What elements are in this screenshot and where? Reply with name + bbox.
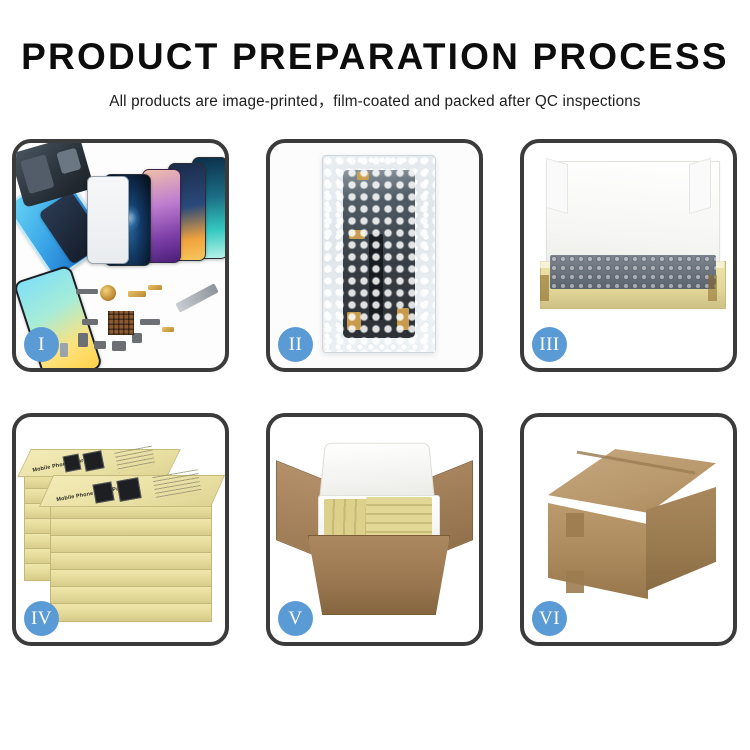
tweezers-icon <box>175 283 219 312</box>
inner-boxes-row-2 <box>366 497 432 541</box>
tape-piece-3 <box>347 312 361 330</box>
step-badge-1: I <box>24 327 59 362</box>
step-panel-1[interactable]: I <box>12 139 229 372</box>
part-gold-1 <box>128 291 146 297</box>
step-badge-5: V <box>278 601 313 636</box>
tape-piece-1 <box>357 172 369 180</box>
part-gold-2 <box>148 285 162 290</box>
bubble-wrap-bag-icon <box>322 155 436 353</box>
step-badge-2: II <box>278 327 313 362</box>
phone-glass-front-icon <box>87 176 129 264</box>
step-panel-3[interactable]: III <box>520 139 737 372</box>
tape-piece-4 <box>397 308 409 330</box>
box-thumb-front-2 <box>116 477 141 502</box>
phone-back-housing-icon <box>16 143 94 208</box>
part-gold-3 <box>162 327 174 332</box>
connector-grid-icon <box>108 311 134 335</box>
part-chip-3 <box>78 333 88 347</box>
shipping-carton-icon <box>308 535 450 615</box>
tape-piece-2 <box>349 230 365 239</box>
page-subtitle: All products are image-printed，film-coat… <box>0 89 750 111</box>
page-title: PRODUCT PREPARATION PROCESS <box>0 38 750 77</box>
speaker-coil-icon <box>100 285 116 301</box>
step-badge-3: III <box>532 327 567 362</box>
part-chip-5 <box>112 341 126 351</box>
step-panel-4[interactable]: Mobile Phone Spare Parts Mobile Phone Sp… <box>12 413 229 646</box>
box-thumb-back-2 <box>82 450 104 471</box>
step-badge-6: VI <box>532 601 567 636</box>
flex-cable-icon <box>369 234 383 320</box>
part-chip-8 <box>60 343 68 357</box>
process-steps-grid: I II III <box>12 139 738 679</box>
step-panel-5[interactable]: V <box>266 413 483 646</box>
box-corner-left <box>540 275 549 301</box>
part-chip-4 <box>94 341 106 349</box>
box-corner-right <box>708 275 717 301</box>
carton-front-face <box>548 503 648 599</box>
page-header: PRODUCT PREPARATION PROCESS All products… <box>0 0 750 111</box>
box-lid-flap-right <box>689 158 711 214</box>
foam-lid-icon <box>319 443 435 503</box>
box-thumb-back-1 <box>63 454 82 473</box>
carton-tape-tab-bottom <box>566 571 584 593</box>
part-chip-1 <box>76 289 98 294</box>
part-chip-2 <box>82 319 98 325</box>
step-panel-6[interactable]: VI <box>520 413 737 646</box>
step-panel-2[interactable]: II <box>266 139 483 372</box>
bubble-wrapped-contents-icon <box>550 255 716 289</box>
box-lid-flap-left <box>546 158 568 214</box>
carton-tape-tab-top <box>566 513 584 537</box>
step-badge-4: IV <box>24 601 59 636</box>
part-chip-7 <box>140 319 160 325</box>
box-thumb-front-1 <box>92 481 114 503</box>
stacked-box-f7 <box>50 603 212 622</box>
